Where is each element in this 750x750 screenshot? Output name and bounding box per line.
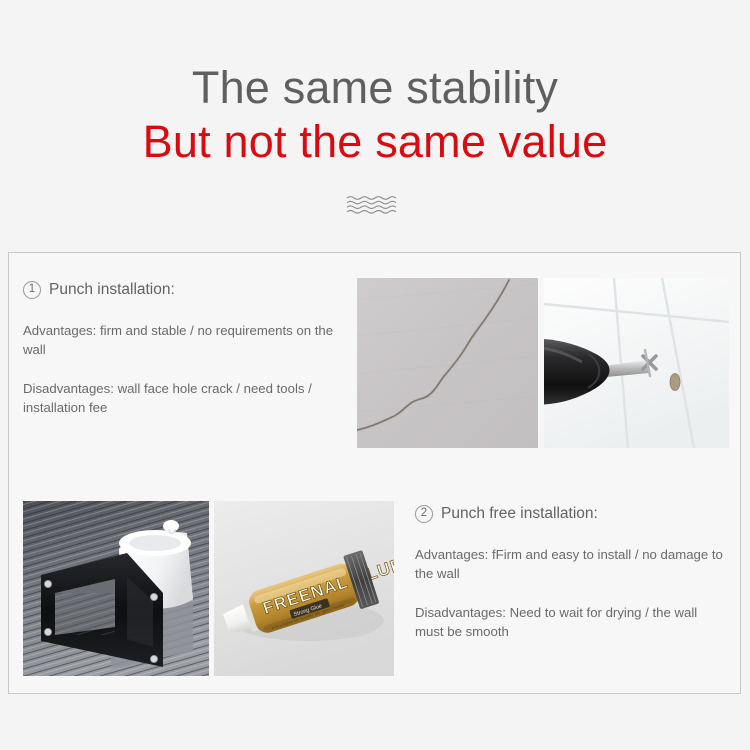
step-2-disadvantages: Disadvantages: Need to wait for drying /…	[415, 603, 727, 641]
punch-installation-text: 1 Punch installation: Advantages: firm a…	[23, 281, 353, 417]
headline-primary: The same stability	[0, 62, 750, 114]
step-1-title: 1 Punch installation:	[23, 281, 353, 299]
step-1-disadvantages: Disadvantages: wall face hole crack / ne…	[23, 379, 353, 417]
step-2-number-badge: 2	[415, 505, 433, 523]
installation-comparison-panel: 1 Punch installation: Advantages: firm a…	[8, 252, 741, 694]
wavy-lines-divider-icon	[345, 194, 405, 214]
punch-free-installation-text: 2 Punch free installation: Advantages: f…	[415, 505, 727, 641]
headline-secondary: But not the same value	[0, 116, 750, 168]
freenal-glue-tube-photo: FREENAL GLUE Strong Glue It is suitable …	[214, 501, 394, 676]
headline-block: The same stability But not the same valu…	[0, 0, 750, 168]
punch-free-installation-row: FREENAL GLUE Strong Glue It is suitable …	[9, 475, 740, 695]
step-2-advantages: Advantages: fFirm and easy to install / …	[415, 545, 727, 583]
step-2-title-label: Punch free installation:	[441, 505, 598, 523]
step-1-number-badge: 1	[23, 281, 41, 299]
step-1-title-label: Punch installation:	[49, 281, 175, 299]
punch-installation-row: 1 Punch installation: Advantages: firm a…	[9, 253, 740, 475]
black-bracket-shelf-photo	[23, 501, 209, 676]
step-2-title: 2 Punch free installation:	[415, 505, 727, 523]
step-1-advantages: Advantages: firm and stable / no require…	[23, 321, 353, 359]
electric-drill-photo	[544, 278, 729, 448]
cracked-wall-photo	[357, 278, 538, 448]
